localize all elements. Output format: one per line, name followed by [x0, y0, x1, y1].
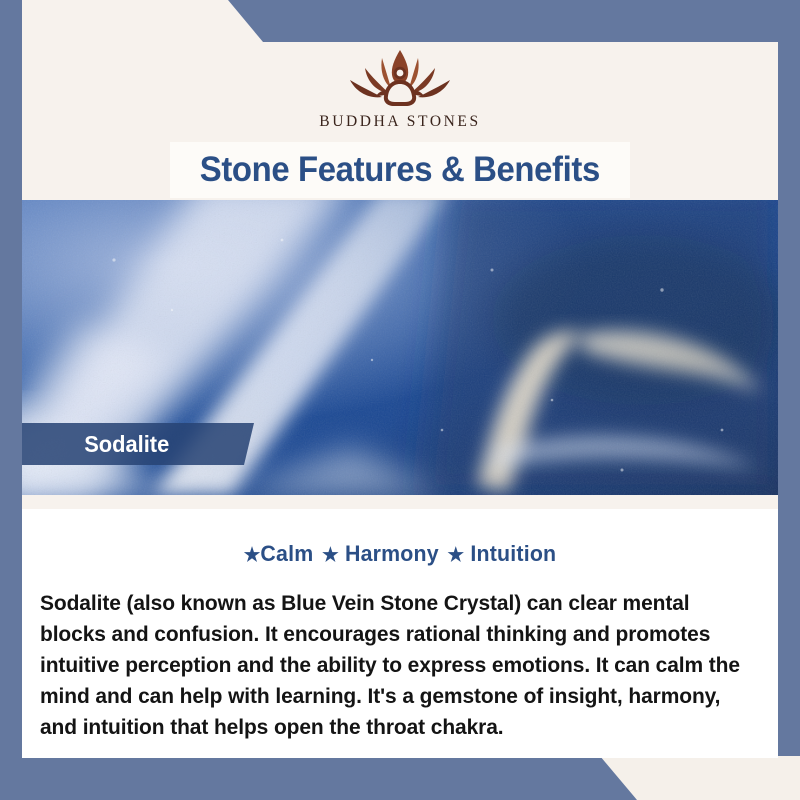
frame-corner-bottom-right-cream [0, 756, 800, 800]
stone-photo: Sodalite [22, 200, 778, 495]
content-section: ★Calm★ Harmony★ Intuition Sodalite (also… [22, 495, 778, 758]
frame-corner-top-left-cream [0, 0, 800, 42]
page-title: Stone Features & Benefits [200, 150, 600, 190]
title-box: Stone Features & Benefits [170, 142, 630, 198]
frame-band-bottom [0, 756, 800, 800]
content-divider [22, 495, 778, 509]
brand-wordmark: BUDDHA STONES [319, 113, 480, 131]
frame-band-left [0, 0, 22, 800]
infographic-page: BUDDHA STONES Stone Features & Benefits [0, 0, 800, 800]
keyword-intuition: Intuition [470, 541, 556, 566]
keyword-harmony: Harmony [345, 541, 439, 566]
stone-name-label: Sodalite [84, 431, 169, 458]
frame-band-right [778, 0, 800, 800]
star-icon: ★ [322, 545, 339, 566]
keyword-list: ★Calm★ Harmony★ Intuition [33, 541, 766, 567]
frame-band-top-right [0, 0, 800, 42]
content-card: BUDDHA STONES Stone Features & Benefits [22, 42, 778, 756]
star-icon: ★ [448, 545, 465, 566]
description-paragraph: Sodalite (also known as Blue Vein Stone … [40, 588, 742, 743]
title-bar: Stone Features & Benefits [22, 142, 778, 200]
brand-header: BUDDHA STONES [22, 42, 778, 142]
lotus-meditation-icon [336, 44, 464, 114]
stone-name-badge: Sodalite [22, 423, 254, 465]
star-icon: ★ [244, 545, 261, 566]
keyword-calm: Calm [260, 541, 313, 566]
